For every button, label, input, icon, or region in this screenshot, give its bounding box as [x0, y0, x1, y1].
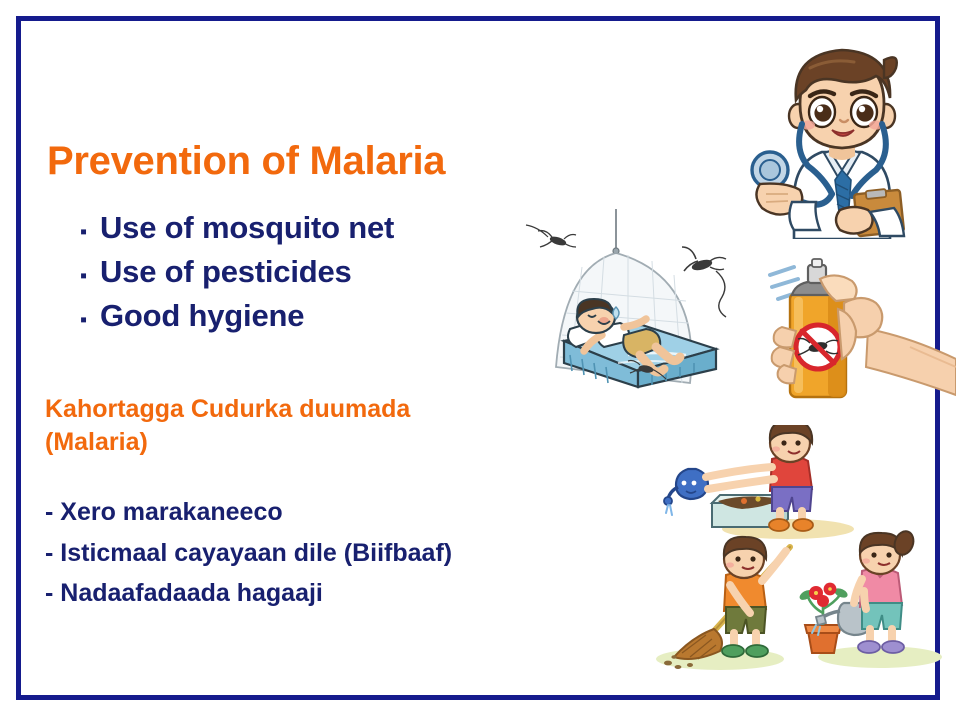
list-item: - Xero marakaneeco — [45, 492, 615, 533]
list-item: - Nadaafadaada hagaaji — [45, 573, 615, 614]
list-item-label: Use of pesticides — [100, 254, 352, 290]
list-item-label: Use of mosquito net — [100, 210, 394, 246]
somali-heading: Kahortagga Cudurka duumada (Malaria) — [45, 393, 565, 459]
square-bullet-icon: ▪ — [80, 222, 100, 242]
list-item: - Isticmaal cayayaan dile (Biifbaaf) — [45, 533, 615, 574]
boy-sweeping-with-broom — [656, 537, 790, 670]
list-item-label: Good hygiene — [100, 298, 304, 334]
hygiene-children-illustration — [648, 425, 948, 675]
doctor-illustration — [736, 24, 948, 239]
somali-list: - Xero marakaneeco - Isticmaal cayayaan … — [45, 492, 615, 614]
somali-heading-line-2: (Malaria) — [45, 426, 565, 459]
page-title: Prevention of Malaria — [47, 139, 445, 184]
list-item: ▪ Good hygiene — [80, 298, 530, 342]
somali-heading-line-1: Kahortagga Cudurka duumada — [45, 393, 565, 426]
slide-canvas: Prevention of Malaria ▪ Use of mosquito … — [0, 0, 960, 720]
boy-pouring-water-into-planter — [664, 425, 854, 539]
girl-watering-flower-pot — [798, 529, 942, 668]
square-bullet-icon: ▪ — [80, 310, 100, 330]
mosquito-net-illustration — [520, 205, 760, 395]
list-item: ▪ Use of mosquito net — [80, 210, 530, 254]
list-item: ▪ Use of pesticides — [80, 254, 530, 298]
english-bullet-list: ▪ Use of mosquito net ▪ Use of pesticide… — [80, 210, 530, 342]
insecticide-spray-illustration — [760, 255, 956, 415]
square-bullet-icon: ▪ — [80, 266, 100, 286]
